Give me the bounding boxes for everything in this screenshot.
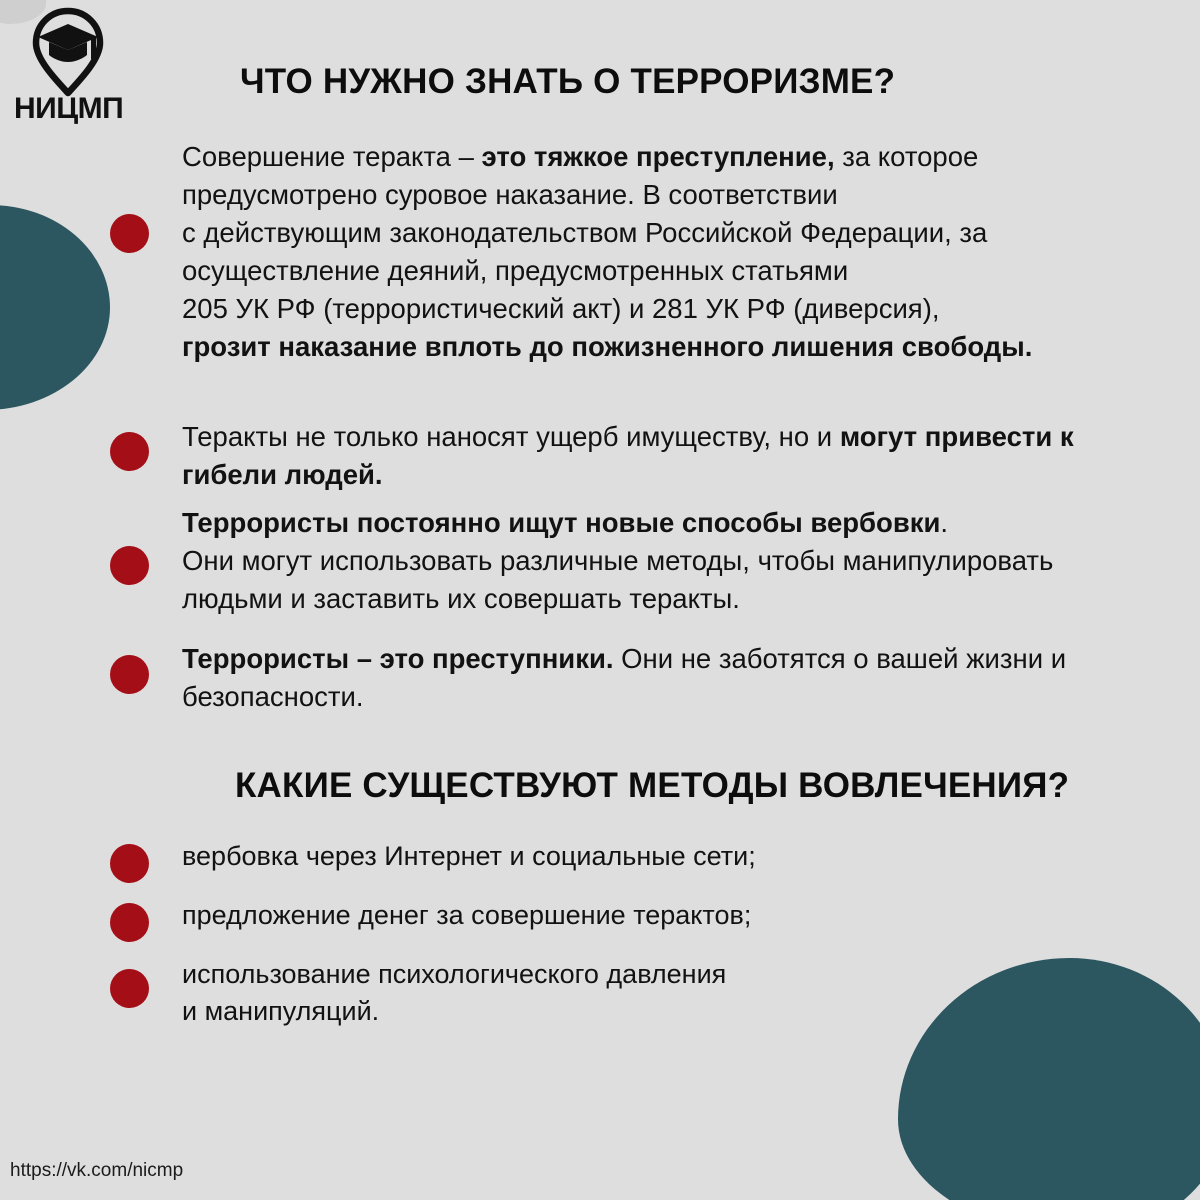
logo-wordmark: НИЦМП	[14, 94, 152, 124]
bullet-item-text: Теракты не только наносят ущерб имуществ…	[182, 418, 1112, 494]
section-title-terrorism: ЧТО НУЖНО ЗНАТЬ О ТЕРРОРИЗМЕ?	[240, 62, 895, 102]
bullet-dot	[110, 655, 149, 694]
bullet-dot	[110, 844, 149, 883]
section-title-methods: КАКИЕ СУЩЕСТВУЮТ МЕТОДЫ ВОВЛЕЧЕНИЯ?	[235, 766, 1069, 806]
bullet-dot	[110, 969, 149, 1008]
bullet-item-text: использование психологического давленияи…	[182, 956, 1112, 1030]
brand-logo: НИЦМП	[12, 6, 152, 124]
bullet-item-text: предложение денег за совершение терактов…	[182, 897, 1112, 934]
bullet-item-text: Террористы – это преступники. Они не заб…	[182, 640, 1112, 716]
bullet-dot	[110, 214, 149, 253]
bullet-item-text: Террористы постоянно ищут новые способы …	[182, 504, 1112, 618]
footer-vk-link[interactable]: https://vk.com/nicmp	[10, 1160, 183, 1182]
bullet-dot	[110, 546, 149, 585]
bullet-item-text: вербовка через Интернет и социальные сет…	[182, 838, 1112, 875]
teal-blob-left	[0, 205, 110, 410]
bullet-dot	[110, 903, 149, 942]
map-pin-graduation-cap-icon	[22, 6, 114, 98]
bullet-item-text: Совершение теракта – это тяжкое преступл…	[182, 138, 1112, 366]
bullet-dot	[110, 432, 149, 471]
poster-canvas: НИЦМП ЧТО НУЖНО ЗНАТЬ О ТЕРРОРИЗМЕ? Сове…	[0, 0, 1200, 1200]
